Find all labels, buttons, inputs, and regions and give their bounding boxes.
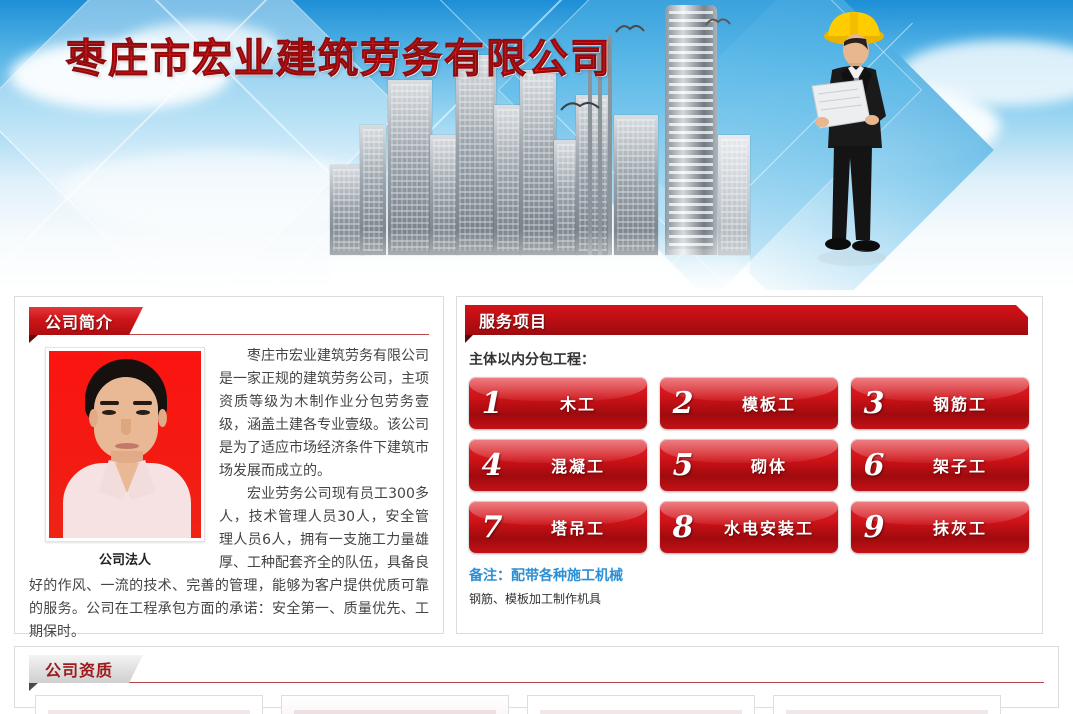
services-button-grid: 1 木工 2 模板工 3 钢筋工 4 混凝工	[465, 377, 1034, 553]
services-header: 服务项目	[465, 305, 1028, 335]
worker-with-hardhat-icon	[800, 8, 910, 273]
legal-person-photo-block: 公司法人	[45, 347, 205, 568]
tab-fold-decoration	[29, 683, 38, 691]
services-note: 备注：配带各种施工机械	[465, 553, 1034, 585]
services-subtitle: 主体以内分包工程：	[465, 343, 1034, 377]
services-note-sub: 钢筋、模板加工制作机具	[465, 585, 1034, 607]
service-number: 8	[660, 510, 706, 545]
services-panel: 服务项目 主体以内分包工程： 1 木工 2 模板工 3 钢筋工	[456, 296, 1043, 634]
company-profile-header: 公司简介	[29, 307, 143, 335]
service-label: 钢筋工	[897, 391, 1029, 415]
service-number: 5	[660, 448, 706, 483]
top-panels-row: 公司简介	[14, 290, 1059, 634]
service-number: 2	[660, 386, 706, 421]
service-label: 模板工	[706, 391, 838, 415]
service-button-3[interactable]: 3 钢筋工	[851, 377, 1029, 429]
certificate-thumbnail-2[interactable]	[281, 695, 509, 714]
services-body: 主体以内分包工程： 1 木工 2 模板工 3 钢筋工 4	[465, 343, 1034, 627]
skyline-fade	[330, 230, 750, 290]
service-button-6[interactable]: 6 架子工	[851, 439, 1029, 491]
redbar-fold-decoration	[465, 335, 473, 343]
service-number: 7	[469, 510, 515, 545]
bird-icon	[705, 16, 731, 28]
site-banner: 枣庄市宏业建筑劳务有限公司	[0, 0, 1073, 290]
certificate-thumbnail-row	[35, 695, 1038, 714]
bird-icon	[560, 98, 586, 110]
service-label: 抹灰工	[897, 515, 1029, 539]
service-button-4[interactable]: 4 混凝工	[469, 439, 647, 491]
service-number: 1	[469, 386, 515, 421]
certificate-thumbnail-3[interactable]	[527, 695, 755, 714]
service-button-9[interactable]: 9 抹灰工	[851, 501, 1029, 553]
service-number: 3	[851, 386, 897, 421]
qualifications-panel: 公司资质	[14, 646, 1059, 708]
service-label: 塔吊工	[515, 515, 647, 539]
certificate-thumbnail-4[interactable]	[773, 695, 1001, 714]
service-label: 木工	[515, 391, 647, 415]
service-label: 砌体	[706, 453, 838, 477]
service-button-8[interactable]: 8 水电安装工	[660, 501, 838, 553]
service-number: 9	[851, 510, 897, 545]
service-label: 架子工	[897, 453, 1029, 477]
service-button-7[interactable]: 7 塔吊工	[469, 501, 647, 553]
service-number: 4	[469, 448, 515, 483]
service-button-1[interactable]: 1 木工	[469, 377, 647, 429]
qualifications-header-tab[interactable]: 公司资质	[29, 655, 143, 683]
certificate-thumbnail-1[interactable]	[35, 695, 263, 714]
service-label: 水电安装工	[706, 515, 838, 539]
page-content: 公司简介	[14, 290, 1059, 708]
page-title: 枣庄市宏业建筑劳务有限公司	[66, 26, 612, 84]
legal-person-photo	[45, 347, 205, 542]
ribbon-fold-decoration	[29, 335, 38, 343]
photo-caption: 公司法人	[45, 542, 205, 568]
company-profile-body: 公司法人 枣庄市宏业建筑劳务有限公司是一家正规的建筑劳务公司，主项资质等级为木制…	[29, 345, 429, 623]
service-number: 6	[851, 448, 897, 483]
company-profile-panel: 公司简介	[14, 296, 444, 634]
service-button-5[interactable]: 5 砌体	[660, 439, 838, 491]
qualifications-divider	[29, 682, 1044, 683]
bird-icon	[615, 22, 641, 34]
service-label: 混凝工	[515, 453, 647, 477]
service-button-2[interactable]: 2 模板工	[660, 377, 838, 429]
